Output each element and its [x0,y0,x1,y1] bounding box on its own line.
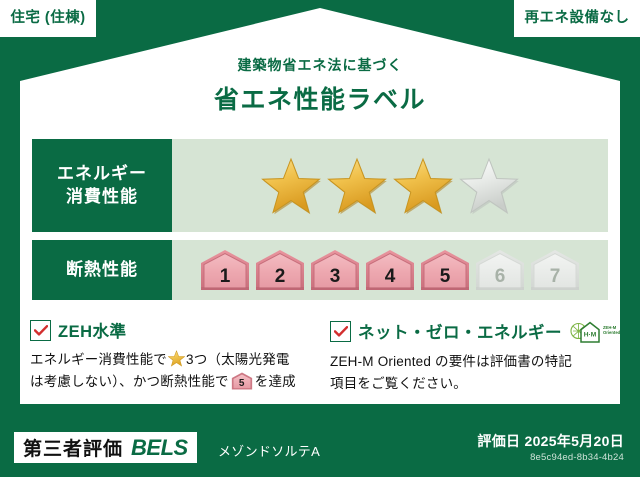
net-zero-title: ネット・ゼロ・エネルギー [358,319,562,343]
star-filled-icon [261,157,321,215]
svg-text:H·M: H·M [584,331,597,338]
insulation-grade-badge-empty: 7 [529,249,581,291]
row-energy-label-line1: エネルギー [57,163,147,186]
insulation-grade-badge-filled: 2 [254,249,306,291]
net-zero-header: ネット・ゼロ・エネルギー H·M ZEH-M Oriented [330,318,622,344]
star-filled-icon [393,157,453,215]
insulation-grade-number: 6 [474,267,526,286]
check-icon [30,320,51,341]
insulation-grade-number: 5 [419,267,471,286]
bels-en-label: BELS [131,435,188,461]
grade-inline-badge-number: 5 [231,379,253,389]
insulation-grade-number: 7 [529,267,581,286]
evaluation-id: 8e5c94ed-8b34-4b24 [530,452,624,463]
zeh-m-oriented-logo: H·M ZEH-M Oriented [569,318,620,344]
star-inline-icon [168,350,185,367]
info-zeh-standard: ZEH水準 エネルギー消費性能で3つ（太陽光発電は考慮しない）、かつ断熱性能で5… [30,318,320,393]
row-insulation-label-line1: 断熱性能 [66,259,138,282]
insulation-grade-number: 4 [364,267,416,286]
tag-renewable-energy: 再エネ設備なし [514,0,640,37]
bels-badge: 第三者評価 BELS [14,432,197,463]
star-rating [172,139,608,232]
energy-performance-label: 住宅 (住棟) 再エネ設備なし 建築物省エネ法に基づく 省エネ性能ラベル エネル… [0,0,640,477]
row-insulation-performance: 断熱性能 1234567 [32,240,608,300]
net-zero-body-line2: 項目をご覧ください。 [330,376,467,391]
zeh-body-stars: 3つ（太陽光発電 [186,352,290,367]
zeh-standard-header: ZEH水準 [30,318,320,342]
label-title: 建築物省エネ法に基づく 省エネ性能ラベル [0,55,640,116]
zeh-standard-title: ZEH水準 [58,318,127,342]
insulation-grade-number: 1 [199,267,251,286]
star-empty-icon [459,157,519,215]
net-zero-body-line1: ZEH-M Oriented の要件は評価書の特記 [330,354,572,369]
row-energy-label-line2: 消費性能 [66,186,138,209]
insulation-grade-badge-filled: 4 [364,249,416,291]
zeh-logo-caption: ZEH-M Oriented [603,326,620,336]
row-energy-label: エネルギー 消費性能 [32,139,172,232]
net-zero-body: ZEH-M Oriented の要件は評価書の特記 項目をご覧ください。 [330,351,622,395]
tag-building-type: 住宅 (住棟) [0,0,96,37]
row-insulation-label: 断熱性能 [32,240,172,300]
zeh-body-part1: エネルギー消費性能で [30,352,167,367]
insulation-grade-number: 3 [309,267,361,286]
info-net-zero-energy: ネット・ゼロ・エネルギー H·M ZEH-M Oriented ZEH-M Or… [330,318,622,395]
bels-jp-label: 第三者評価 [23,434,123,461]
zeh-standard-body: エネルギー消費性能で3つ（太陽光発電は考慮しない）、かつ断熱性能で5を達成 [30,349,320,393]
title-subtitle: 建築物省エネ法に基づく [0,55,640,75]
title-main: 省エネ性能ラベル [0,80,640,116]
star-filled-icon [327,157,387,215]
insulation-grade-badge-filled: 1 [199,249,251,291]
building-name: メゾンドソルテA [218,441,320,460]
insulation-grade-number: 2 [254,267,306,286]
check-icon [330,321,351,342]
insulation-grade-badge-filled: 3 [309,249,361,291]
zeh-body-part3: を達成 [255,374,296,389]
insulation-grade-scale: 1234567 [172,240,608,300]
insulation-grade-badge-empty: 6 [474,249,526,291]
zeh-logo-line2: Oriented [603,331,620,336]
evaluation-date: 評価日 2025年5月20日 [477,431,624,451]
zeh-body-part2: は考慮しない）、かつ断熱性能で [30,374,229,389]
insulation-grade-badge-filled: 5 [419,249,471,291]
row-energy-performance: エネルギー 消費性能 [32,139,608,232]
footer-bar: 第三者評価 BELS メゾンドソルテA 評価日 2025年5月20日 8e5c9… [0,424,640,477]
grade-inline-badge: 5 [231,372,253,390]
